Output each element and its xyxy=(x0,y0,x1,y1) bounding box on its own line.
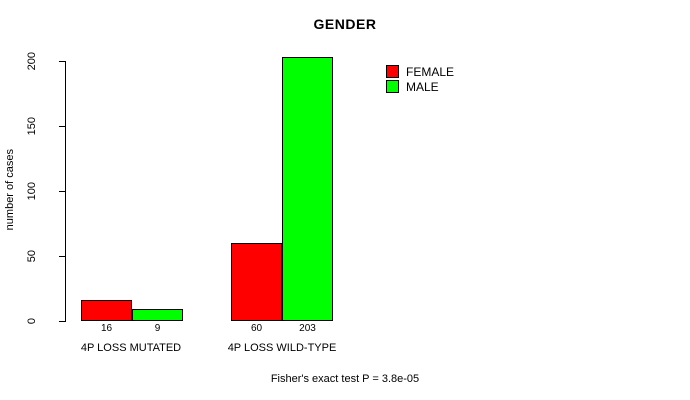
y-tick-mark-50 xyxy=(59,256,66,257)
bar-value-male-mutated: 9 xyxy=(132,324,183,334)
y-axis-title-wrap: number of cases xyxy=(4,120,20,260)
y-tick-label-100-wrap: 100 xyxy=(26,177,54,205)
legend-label-female: FEMALE xyxy=(406,66,454,78)
bar-female-mutated[interactable] xyxy=(81,300,132,321)
y-tick-mark-150 xyxy=(59,126,66,127)
legend-label-male: MALE xyxy=(406,81,439,93)
y-axis-title: number of cases xyxy=(4,149,20,230)
y-tick-label-200-wrap: 200 xyxy=(26,47,54,75)
legend-item-female[interactable]: FEMALE xyxy=(386,64,454,79)
y-tick-label-50-wrap: 50 xyxy=(26,242,54,270)
bar-male-wildtype[interactable] xyxy=(282,57,333,321)
bar-value-female-mutated: 16 xyxy=(81,324,132,334)
y-tick-label-0-wrap: 0 xyxy=(26,307,54,335)
legend-item-male[interactable]: MALE xyxy=(386,79,454,94)
y-tick-label-150: 150 xyxy=(27,117,53,135)
y-tick-mark-100 xyxy=(59,191,66,192)
chart-title: GENDER xyxy=(0,16,690,32)
y-tick-label-50: 50 xyxy=(27,250,53,262)
bar-value-male-wildtype: 203 xyxy=(282,324,333,334)
legend: FEMALE MALE xyxy=(386,64,454,94)
bar-male-mutated[interactable] xyxy=(132,309,183,321)
y-tick-label-100: 100 xyxy=(27,182,53,200)
chart-canvas: GENDER 200 150 100 50 0 number of cases … xyxy=(0,0,690,400)
y-tick-mark-0 xyxy=(59,321,66,322)
y-tick-mark-200 xyxy=(59,61,66,62)
bar-value-female-wildtype: 60 xyxy=(231,324,282,334)
legend-swatch-male-icon xyxy=(386,80,399,93)
y-tick-label-0: 0 xyxy=(27,318,53,324)
y-tick-label-150-wrap: 150 xyxy=(26,112,54,140)
bar-female-wildtype[interactable] xyxy=(231,243,282,321)
group-label-4p-loss-wild-type: 4P LOSS WILD-TYPE xyxy=(182,343,382,354)
legend-swatch-female-icon xyxy=(386,65,399,78)
y-tick-label-200: 200 xyxy=(27,52,53,70)
statistical-test-annotation: Fisher's exact test P = 3.8e-05 xyxy=(0,373,690,385)
